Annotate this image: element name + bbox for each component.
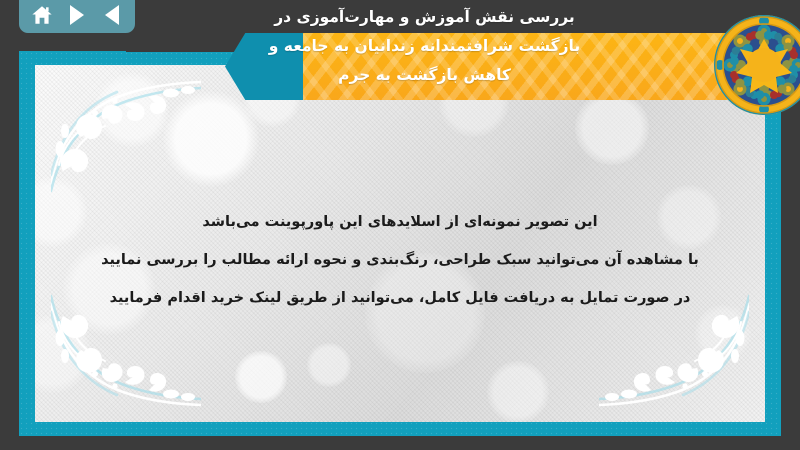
bokeh-circle <box>575 91 649 165</box>
bokeh-circle <box>657 185 721 249</box>
bokeh-circle <box>235 351 287 403</box>
slide-stage: این تصویر نمونه‌ای از اسلایدهای این پاور… <box>0 0 800 450</box>
bokeh-circle <box>307 343 351 387</box>
arabesque-ornament-bottom-left <box>51 288 201 408</box>
bokeh-circle <box>365 253 485 373</box>
persian-medallion-ornament <box>712 13 800 117</box>
navigation-bar[interactable] <box>19 0 135 33</box>
slide-panel: این تصویر نمونه‌ای از اسلایدهای این پاور… <box>19 51 781 436</box>
banner-notch <box>126 24 236 52</box>
chevron-right-icon <box>70 5 84 25</box>
home-icon <box>31 4 53 26</box>
next-slide-button[interactable] <box>63 3 91 27</box>
arabesque-ornament-bottom-right <box>599 288 749 408</box>
previous-slide-button[interactable] <box>98 3 126 27</box>
arabesque-ornament-top-left <box>51 79 201 199</box>
chevron-left-icon <box>105 5 119 25</box>
slide-canvas: این تصویر نمونه‌ای از اسلایدهای این پاور… <box>35 65 765 422</box>
home-button[interactable] <box>28 3 56 27</box>
bokeh-circle <box>487 361 549 422</box>
